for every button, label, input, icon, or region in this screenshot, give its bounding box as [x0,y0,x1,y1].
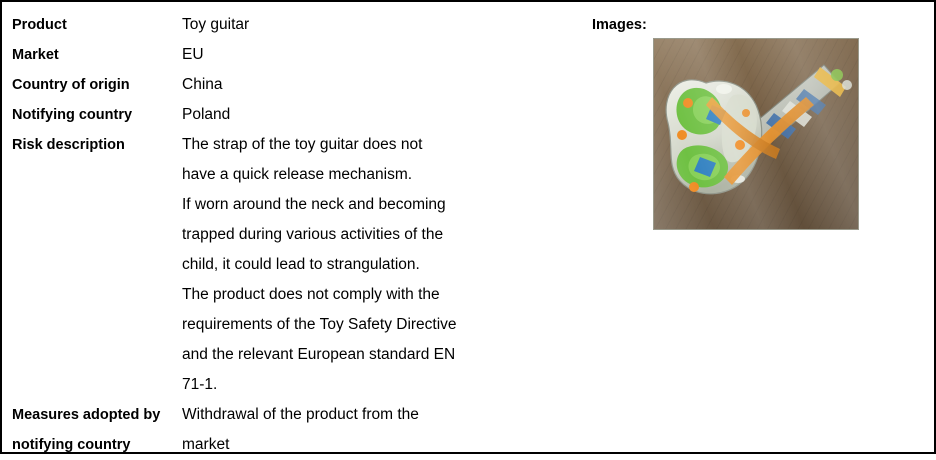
table-images-column: Images: [592,10,932,40]
row-value-risk-description: The strap of the toy guitar does not hav… [182,130,582,400]
measures-label-line: notifying country [12,430,176,460]
risk-line: The strap of the toy guitar does not [182,130,574,160]
table-row: Country of origin China [2,70,592,100]
row-label-country-of-origin: Country of origin [2,70,182,100]
measures-line: Withdrawal of the product from the [182,400,574,430]
row-value-country-of-origin: China [182,70,582,100]
row-label-risk-description: Risk description [2,130,182,160]
measures-label-line: Measures adopted by [12,400,176,430]
risk-line: requirements of the Toy Safety Directive [182,310,574,340]
row-label-product: Product [2,10,182,40]
risk-line: 71-1. [182,370,574,400]
risk-line: and the relevant European standard EN [182,340,574,370]
row-label-notifying-country: Notifying country [2,100,182,130]
row-value-market: EU [182,40,582,70]
images-header-label: Images: [592,10,932,40]
risk-line: If worn around the neck and becoming [182,190,574,220]
table-row: Product Toy guitar [2,10,592,40]
table-row: Risk description The strap of the toy gu… [2,130,592,400]
row-value-notifying-country: Poland [182,100,582,130]
table-row: Market EU [2,40,592,70]
risk-line: child, it could lead to strangulation. [182,250,574,280]
row-label-market: Market [2,40,182,70]
risk-line: trapped during various activities of the [182,220,574,250]
risk-line: have a quick release mechanism. [182,160,574,190]
row-label-measures-adopted: Measures adopted by notifying country [2,400,182,460]
measures-line: market [182,430,574,460]
toy-guitar-illustration [654,39,858,229]
row-value-measures-adopted: Withdrawal of the product from the marke… [182,400,582,460]
table-row: Measures adopted by notifying country Wi… [2,400,592,460]
table-left-column: Product Toy guitar Market EU Country of … [2,10,592,460]
product-photo [653,38,859,230]
product-recall-table: Product Toy guitar Market EU Country of … [2,2,934,452]
document-page: Product Toy guitar Market EU Country of … [0,0,936,454]
table-row: Notifying country Poland [2,100,592,130]
risk-line: The product does not comply with the [182,280,574,310]
row-value-product: Toy guitar [182,10,582,40]
